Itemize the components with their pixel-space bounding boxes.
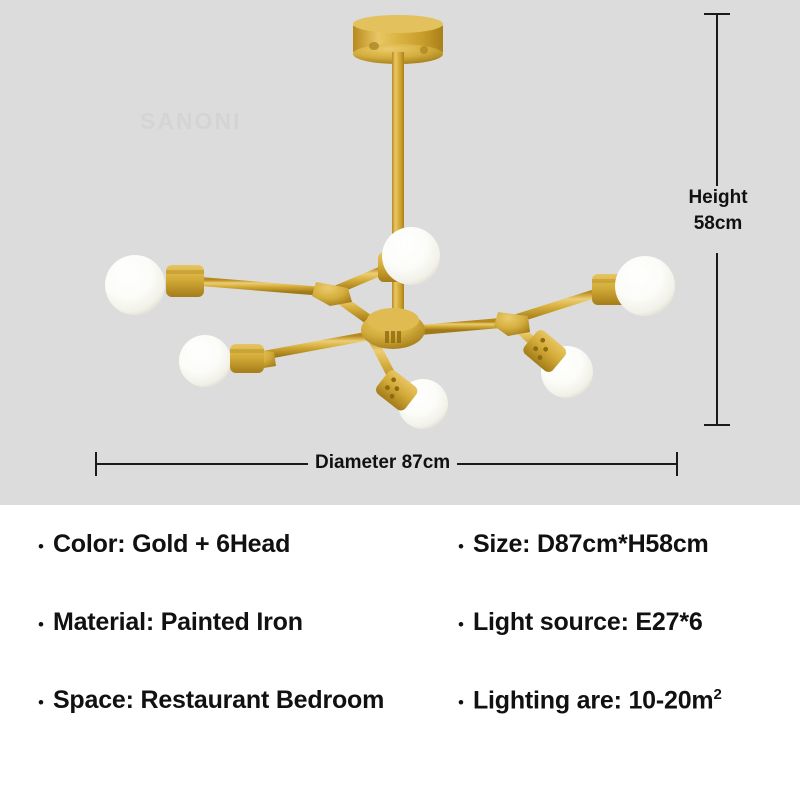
height-cap-bottom <box>704 424 730 426</box>
central-hub <box>361 308 425 349</box>
specifications-section: • Color: Gold + 6Head • Material: Painte… <box>0 505 800 800</box>
spec-item-light-source: • Light source: E27*6 <box>458 608 722 686</box>
height-label-line2: 58cm <box>682 211 754 237</box>
drop-rod <box>392 52 404 327</box>
height-line-lower <box>716 253 718 425</box>
bullet-icon: • <box>458 616 464 633</box>
product-spec-page: SANONI <box>0 0 800 800</box>
bullet-icon: • <box>38 694 44 711</box>
bullet-icon: • <box>458 538 464 555</box>
bullet-icon: • <box>38 538 44 555</box>
spec-color-text: Color: Gold + 6Head <box>53 530 290 559</box>
bulb-lower-right <box>521 328 593 398</box>
bullet-icon: • <box>458 694 464 711</box>
bulb-left <box>105 255 204 315</box>
diameter-dimension-label: Diameter 87cm <box>308 452 457 474</box>
bulb-top <box>378 227 440 285</box>
spec-size-text: Size: D87cm*H58cm <box>473 530 709 559</box>
spec-space-text: Space: Restaurant Bedroom <box>53 686 384 715</box>
spec-item-size: • Size: D87cm*H58cm <box>458 530 722 608</box>
chandelier-illustration <box>0 0 800 505</box>
height-dimension-label: Height 58cm <box>682 185 754 237</box>
spec-material-text: Material: Painted Iron <box>53 608 303 637</box>
height-line-upper <box>716 14 718 186</box>
spec-lighting-area-text: Lighting are: 10-20m2 <box>473 686 722 715</box>
spec-item-space: • Space: Restaurant Bedroom <box>38 686 384 764</box>
product-photo-panel: SANONI <box>0 0 800 505</box>
spec-lighting-area-base: Lighting are: 10-20m <box>473 686 714 714</box>
bulb-mid-left <box>179 335 264 387</box>
spec-item-material: • Material: Painted Iron <box>38 608 384 686</box>
height-label-line1: Height <box>682 185 754 211</box>
bullet-icon: • <box>38 616 44 633</box>
spec-column-right: • Size: D87cm*H58cm • Light source: E27*… <box>458 530 722 764</box>
bulb-right <box>592 256 675 316</box>
bulb-bottom-center <box>374 368 448 429</box>
spec-item-color: • Color: Gold + 6Head <box>38 530 384 608</box>
diameter-cap-right <box>676 452 678 476</box>
spec-item-lighting-area: • Lighting are: 10-20m2 <box>458 686 722 764</box>
spec-light-source-text: Light source: E27*6 <box>473 608 703 637</box>
spec-column-left: • Color: Gold + 6Head • Material: Painte… <box>38 530 384 764</box>
spec-lighting-area-superscript: 2 <box>713 686 721 703</box>
